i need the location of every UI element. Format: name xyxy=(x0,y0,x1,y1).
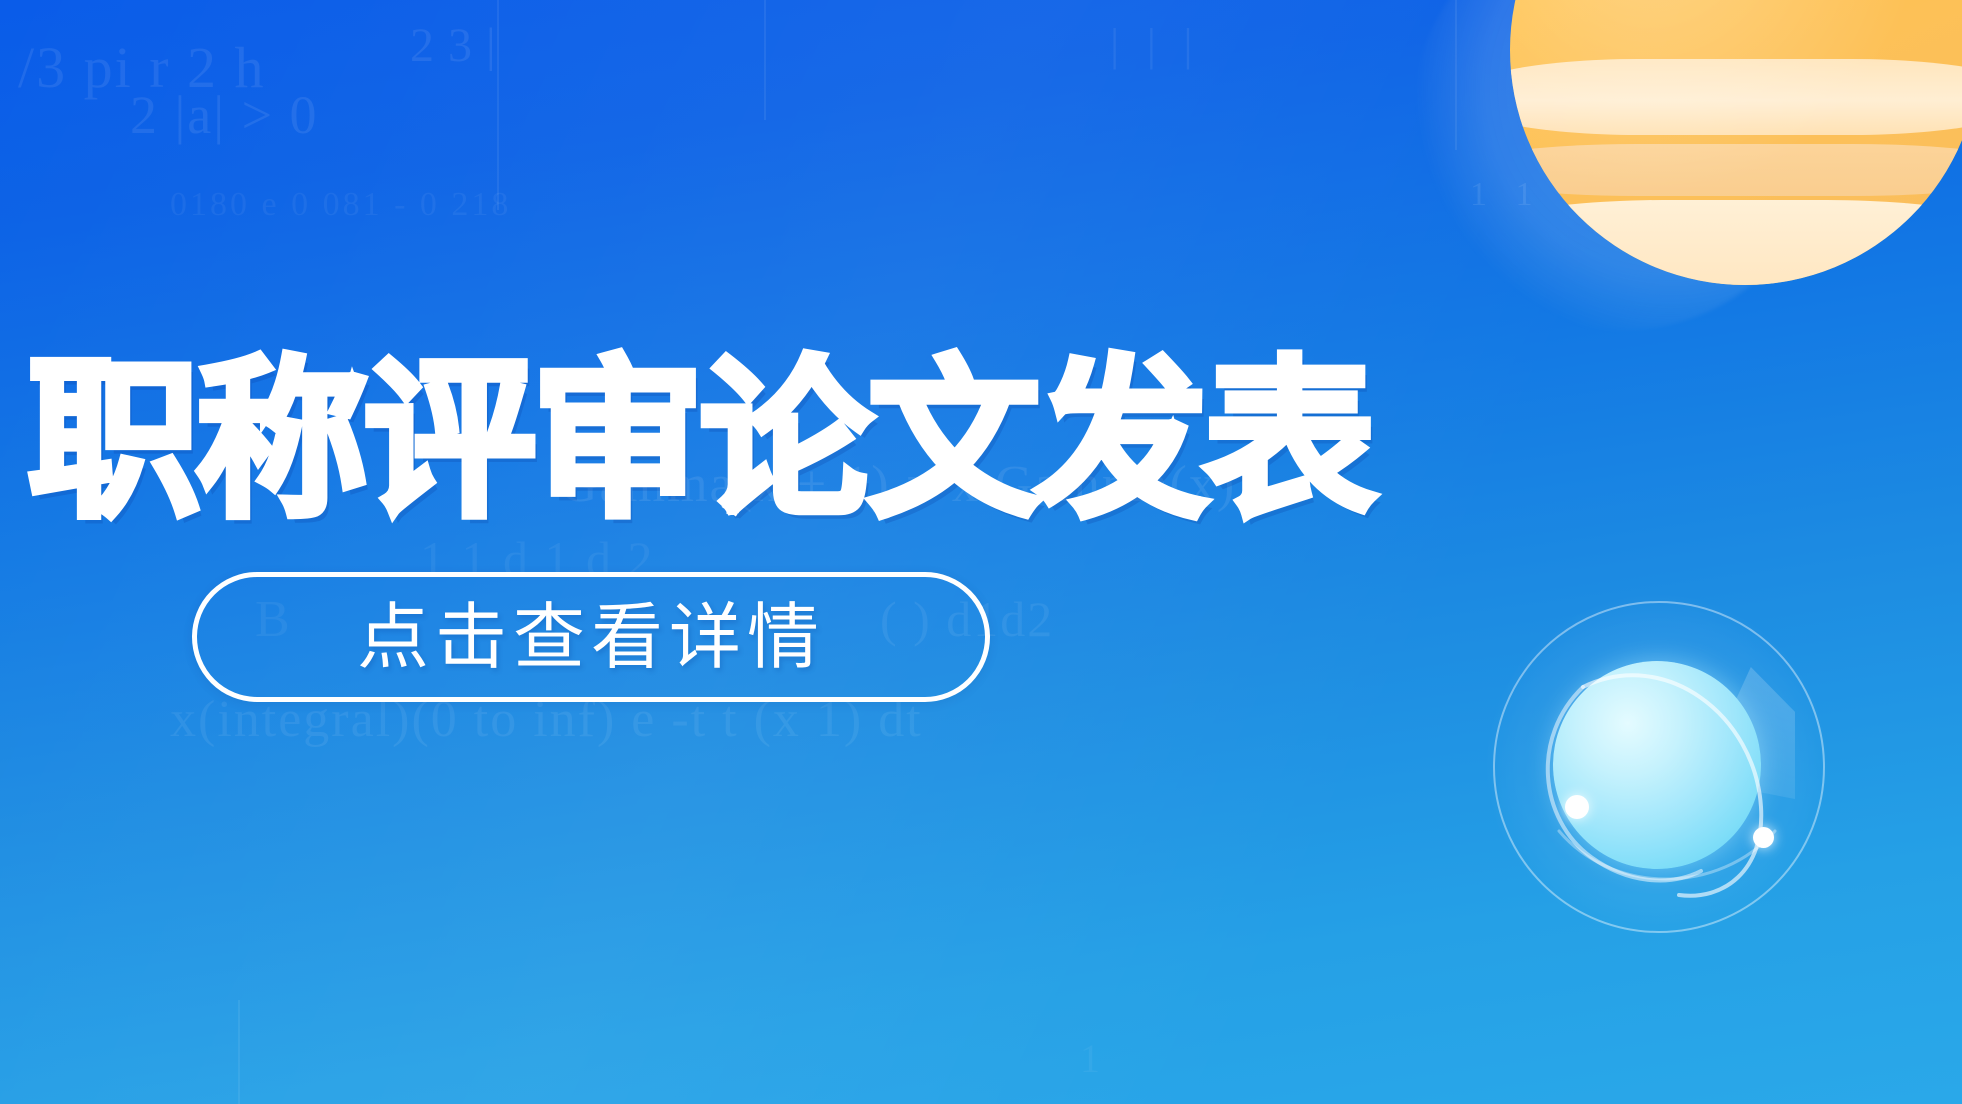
watermark-text-j: 1 xyxy=(1080,1035,1102,1082)
atom-globe xyxy=(1487,595,1827,935)
saturn-planet xyxy=(1392,0,1962,415)
view-details-button-label: 点击查看详情 xyxy=(357,601,825,673)
page-title: 职称评审论文发表 xyxy=(28,355,1372,527)
watermark-rule-1 xyxy=(497,0,499,210)
globe-orbit-paths xyxy=(1487,595,1827,935)
watermark-text-l: | | | xyxy=(1110,18,1201,71)
watermark-text-d: 0180 e 0 081 - 0 218 xyxy=(170,186,511,224)
watermark-rule-4 xyxy=(238,1000,240,1104)
watermark-text-a: /3 pi r 2 h xyxy=(18,34,266,101)
watermark-rule-2 xyxy=(764,0,766,120)
orbit-dot-2 xyxy=(1753,827,1774,848)
watermark-text-c: 23| xyxy=(410,18,510,73)
promo-banner: /3 pi r 2 h 2 |a| > 0 23| 0180 e 0 081 -… xyxy=(0,0,1962,1104)
orbit-dot-1 xyxy=(1565,795,1589,819)
view-details-button[interactable]: 点击查看详情 xyxy=(192,572,990,702)
planet-body xyxy=(1510,0,1962,285)
watermark-text-b: 2 |a| > 0 xyxy=(130,84,319,146)
